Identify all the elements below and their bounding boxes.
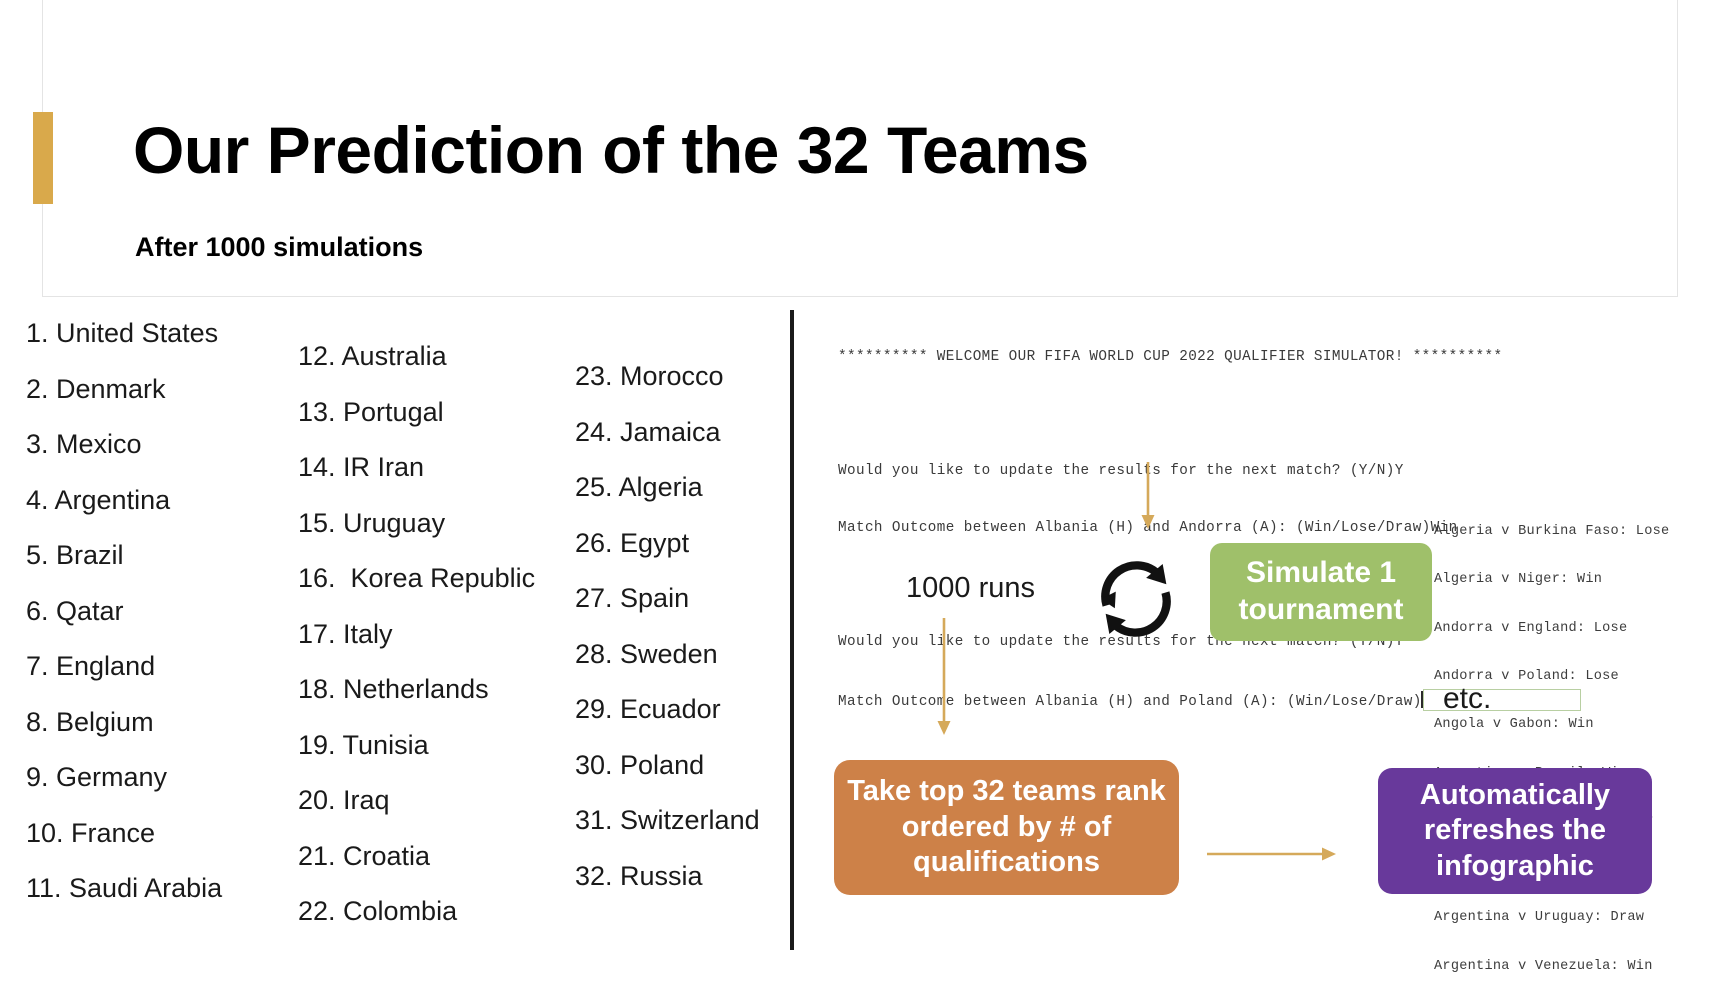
title-accent-bar — [33, 112, 53, 204]
list-item: 18. Netherlands — [298, 676, 548, 703]
list-item: 6. Qatar — [26, 598, 276, 625]
list-item: 30. Poland — [575, 752, 810, 779]
predicted-teams-list: 1. United States 2. Denmark 3. Mexico 4.… — [0, 320, 790, 970]
list-item: 13. Portugal — [298, 399, 548, 426]
console-prompt-1-question: Would you like to update the results for… — [838, 462, 1581, 481]
result-line: Algeria v Niger: Win — [1434, 572, 1669, 588]
list-item: 12. Australia — [298, 343, 548, 370]
list-item: 26. Egypt — [575, 530, 810, 557]
list-item: 25. Algeria — [575, 474, 810, 501]
list-item: 28. Sweden — [575, 641, 810, 668]
list-item: 15. Uruguay — [298, 510, 548, 537]
list-item: 16. Korea Republic — [298, 565, 548, 592]
section-divider — [790, 310, 794, 950]
list-item: 7. England — [26, 653, 276, 680]
result-line: Argentina v Venezuela: Win — [1434, 959, 1669, 975]
teams-column-2: 12. Australia 13. Portugal 14. IR Iran 1… — [298, 343, 548, 954]
list-item: 3. Mexico — [26, 431, 276, 458]
teams-column-1: 1. United States 2. Denmark 3. Mexico 4.… — [26, 320, 276, 931]
list-item: 31. Switzerland — [575, 807, 810, 834]
page-subtitle: After 1000 simulations — [135, 232, 423, 263]
list-item: 20. Iraq — [298, 787, 548, 814]
etc-label: etc. — [1443, 682, 1491, 716]
arrow-down-to-top32 — [935, 618, 953, 736]
result-line: Argentina v Uruguay: Draw — [1434, 910, 1669, 926]
list-item: 32. Russia — [575, 863, 810, 890]
list-item: 24. Jamaica — [575, 419, 810, 446]
list-item: 11. Saudi Arabia — [26, 875, 276, 902]
match-results-list: Algeria v Burkina Faso: Lose Algeria v N… — [1434, 492, 1669, 1000]
arrow-down-to-simulate — [1139, 462, 1157, 530]
list-item: 23. Morocco — [575, 363, 810, 390]
teams-column-3: 23. Morocco 24. Jamaica 25. Algeria 26. … — [575, 363, 810, 918]
refresh-infographic-box[interactable]: Automatically refreshes the infographic — [1378, 768, 1652, 894]
list-item: 4. Argentina — [26, 487, 276, 514]
list-item: 2. Denmark — [26, 376, 276, 403]
list-item: 22. Colombia — [298, 898, 548, 925]
arrow-right-to-infographic — [1207, 845, 1337, 863]
console-banner: ********** WELCOME OUR FIFA WORLD CUP 20… — [838, 348, 1581, 367]
result-line: Algeria v Burkina Faso: Lose — [1434, 524, 1669, 540]
result-line: Angola v Gabon: Win — [1434, 717, 1669, 733]
text-caret — [1421, 691, 1423, 708]
take-top-32-box[interactable]: Take top 32 teams rank ordered by # of q… — [834, 760, 1179, 895]
result-line: Andorra v England: Lose — [1434, 621, 1669, 637]
loop-arrows-icon — [1090, 553, 1182, 645]
simulate-tournament-box[interactable]: Simulate 1 tournament — [1210, 543, 1432, 641]
list-item: 9. Germany — [26, 764, 276, 791]
page-title: Our Prediction of the 32 Teams — [133, 112, 1089, 188]
list-item: 10. France — [26, 820, 276, 847]
list-item: 1. United States — [26, 320, 276, 347]
console-prompt-2-match: Match Outcome between Albania (H) and Po… — [838, 694, 1422, 710]
list-item: 5. Brazil — [26, 542, 276, 569]
runs-label: 1000 runs — [906, 572, 1035, 605]
list-item: 29. Ecuador — [575, 696, 810, 723]
console-blank-line — [838, 405, 1581, 424]
list-item: 27. Spain — [575, 585, 810, 612]
list-item: 17. Italy — [298, 621, 548, 648]
list-item: 19. Tunisia — [298, 732, 548, 759]
list-item: 21. Croatia — [298, 843, 548, 870]
list-item: 14. IR Iran — [298, 454, 548, 481]
list-item: 8. Belgium — [26, 709, 276, 736]
slide-canvas: Our Prediction of the 32 Teams After 100… — [0, 0, 1732, 1000]
